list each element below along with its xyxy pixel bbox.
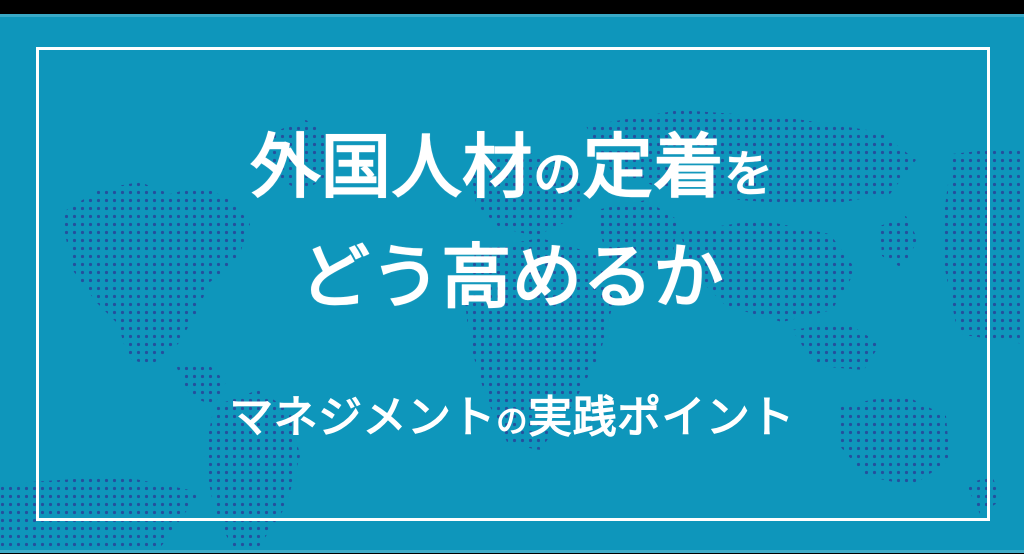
subtitle: マネジメントの実践ポイント <box>0 396 1024 440</box>
title-line-1-part1: 外国人材 <box>250 128 533 206</box>
title-text-block: 外国人材の定着を どう高めるか マネジメントの実践ポイント <box>0 14 1024 553</box>
title-slide: 外国人材の定着を どう高めるか マネジメントの実践ポイント <box>0 0 1024 554</box>
title-line-1-small-no: の <box>533 148 583 202</box>
subtitle-small-no: の <box>496 403 528 439</box>
subtitle-part1: マネジメント <box>229 393 496 442</box>
title-line-1-small-wo: を <box>724 148 774 202</box>
title-line-2: どう高めるか <box>0 242 1024 312</box>
title-line-1-part2: 定着 <box>583 128 724 206</box>
letterbox-band-top <box>0 0 1024 14</box>
slide-stage: 外国人材の定着を どう高めるか マネジメントの実践ポイント <box>0 14 1024 553</box>
subtitle-part2: 実践ポイント <box>528 393 795 442</box>
title-line-1: 外国人材の定着を <box>0 132 1024 202</box>
